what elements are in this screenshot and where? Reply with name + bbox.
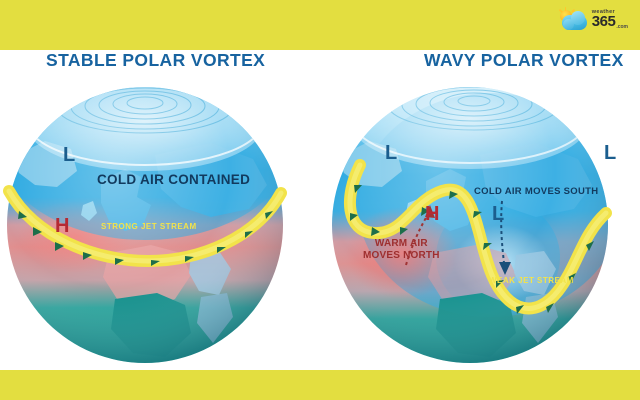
globe-wavy	[330, 85, 610, 365]
weather365-logo[interactable]: weather 365.com	[559, 9, 628, 31]
top-band	[0, 0, 640, 50]
bottom-band	[0, 370, 640, 400]
logo-number: 365	[592, 14, 616, 29]
sun-cloud-icon	[559, 9, 589, 31]
globe-stable	[5, 85, 285, 365]
infographic-canvas: weather 365.com STABLE POLAR VORTEX WAVY…	[0, 0, 640, 400]
panel-title-stable: STABLE POLAR VORTEX	[46, 50, 265, 71]
logo-tld: .com	[616, 24, 628, 30]
panel-title-wavy: WAVY POLAR VORTEX	[424, 50, 624, 71]
